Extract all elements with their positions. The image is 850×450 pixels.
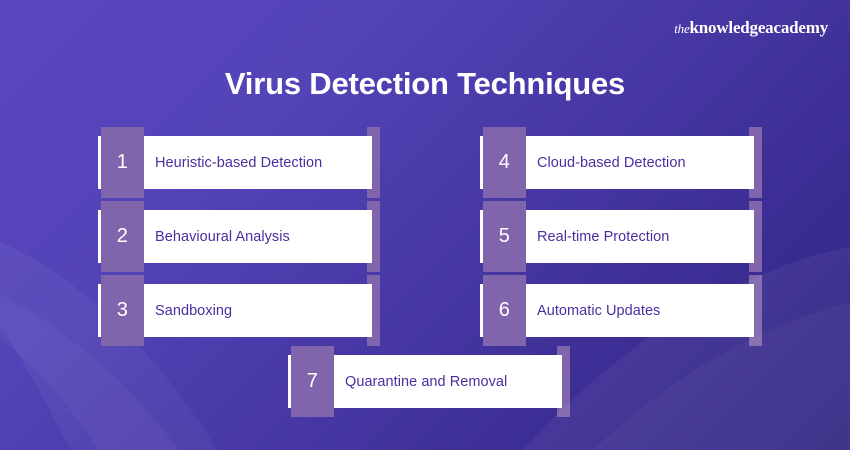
card-label: Real-time Protection [537,229,669,245]
card-accent-bar [367,275,380,346]
card-label: Behavioural Analysis [155,229,290,245]
brand-logo: theknowledgeacademy [674,18,828,38]
card-number-badge: 7 [291,346,334,417]
technique-card[interactable]: 1 Heuristic-based Detection [98,136,372,189]
technique-card[interactable]: 7 Quarantine and Removal [288,355,562,408]
card-number-badge: 5 [483,201,526,272]
card-number-badge: 3 [101,275,144,346]
technique-card[interactable]: 5 Real-time Protection [480,210,754,263]
card-label: Automatic Updates [537,303,660,319]
card-label: Sandboxing [155,303,232,319]
card-label: Quarantine and Removal [345,374,507,390]
card-number-badge: 4 [483,127,526,198]
card-accent-bar [367,201,380,272]
technique-card[interactable]: 3 Sandboxing [98,284,372,337]
technique-card[interactable]: 2 Behavioural Analysis [98,210,372,263]
brand-logo-name: knowledgeacademy [690,18,828,37]
techniques-last-row: 7 Quarantine and Removal [0,355,850,408]
technique-card[interactable]: 6 Automatic Updates [480,284,754,337]
technique-card[interactable]: 4 Cloud-based Detection [480,136,754,189]
card-accent-bar [749,127,762,198]
card-accent-bar [367,127,380,198]
page-title: Virus Detection Techniques [0,66,850,102]
card-number-badge: 2 [101,201,144,272]
brand-logo-prefix: the [674,21,689,36]
card-number-badge: 1 [101,127,144,198]
card-label: Heuristic-based Detection [155,155,322,171]
techniques-grid: 1 Heuristic-based Detection 4 Cloud-base… [98,136,754,337]
card-label: Cloud-based Detection [537,155,686,171]
card-accent-bar [557,346,570,417]
card-number-badge: 6 [483,275,526,346]
card-accent-bar [749,275,762,346]
card-accent-bar [749,201,762,272]
